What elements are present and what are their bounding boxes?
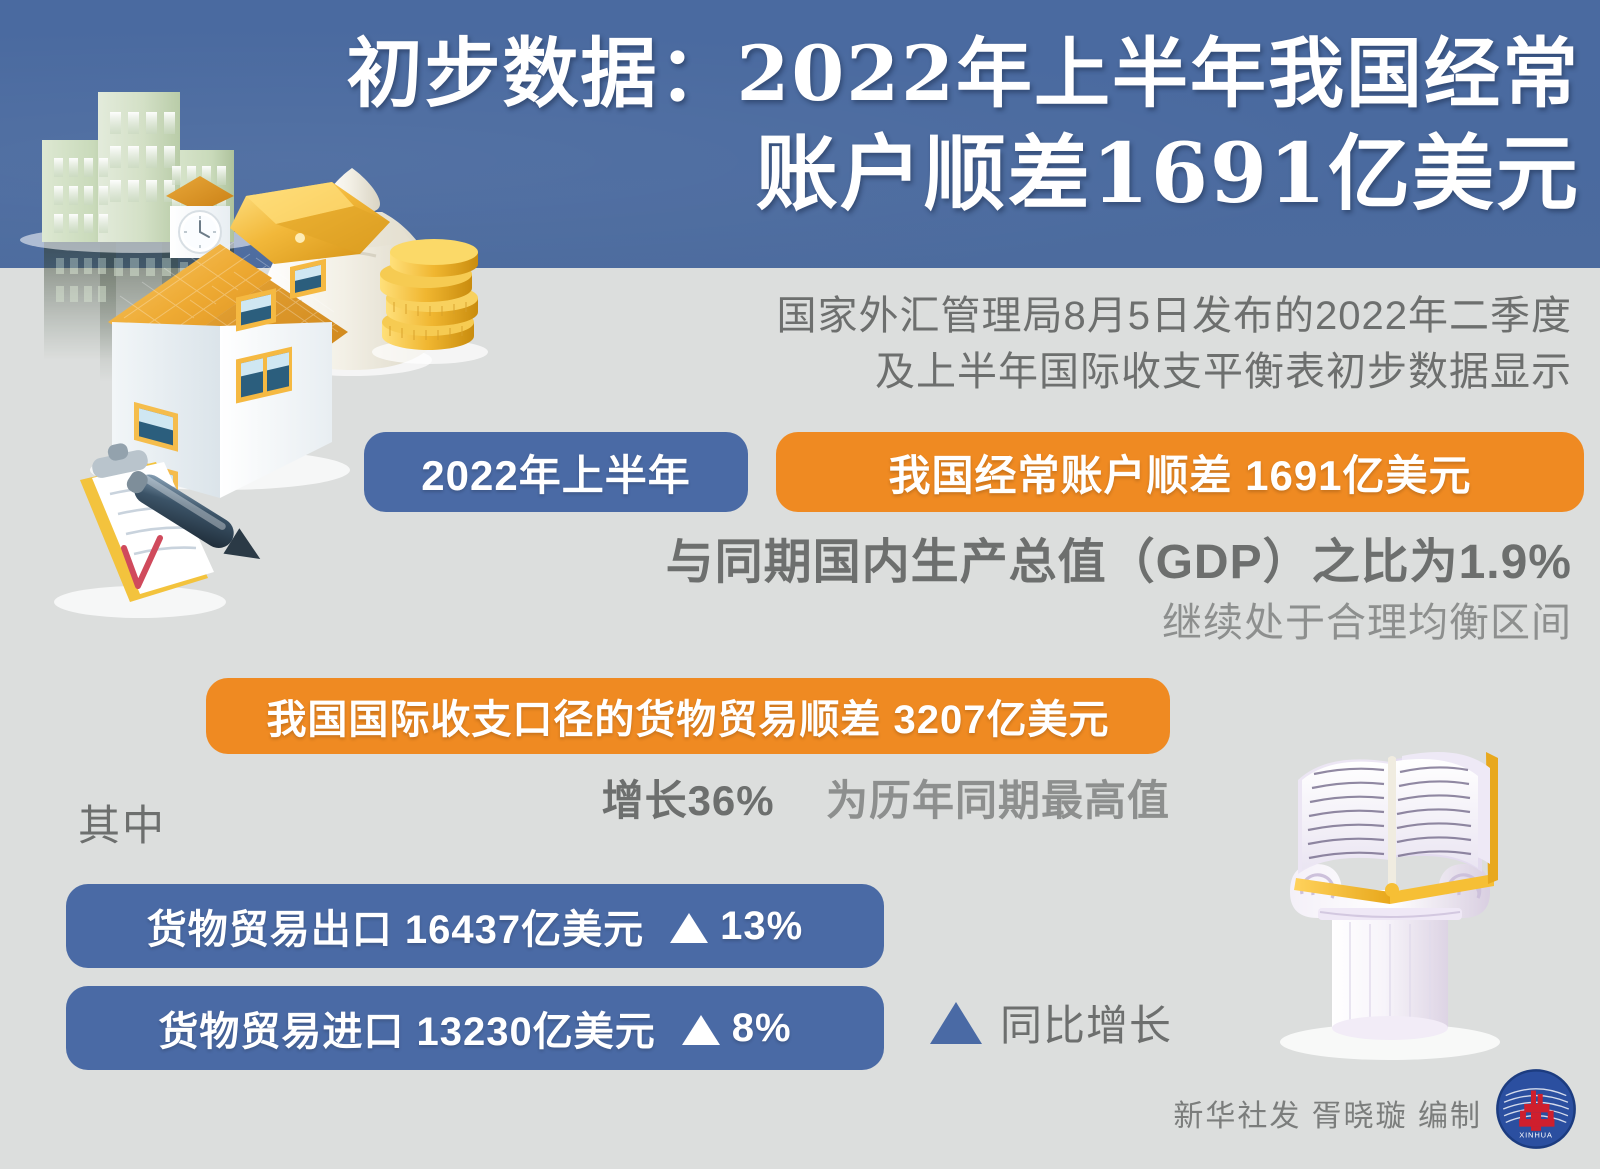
lede-paragraph: 国家外汇管理局8月5日发布的2022年二季度 及上半年国际收支平衡表初步数据显示 [572,288,1572,400]
credit-line: 新华社发 胥晓璇 编制 [1173,1091,1482,1135]
gdp-ratio-note: 继续处于合理均衡区间 [472,596,1572,650]
among-label: 其中 [78,792,166,853]
title-line-1: 初步数据：2022年上半年我国经常 [250,24,1580,124]
triangle-up-icon [930,1002,982,1044]
infographic-poster: 初步数据：2022年上半年我国经常 账户顺差1691亿美元 国家外汇管理局8月5… [0,0,1600,1169]
gdp-ratio-text: 与同期国内生产总值（GDP）之比为1.9% [472,532,1572,594]
legend-label: 同比增长 [1000,992,1172,1053]
xinhua-logo: XINHUA [1494,1067,1578,1151]
triangle-up-icon [682,1015,720,1045]
badge-goods-import: 货物贸易进口 13230亿美元 8% [66,986,884,1070]
svg-text:XINHUA: XINHUA [1519,1131,1553,1140]
export-change: 13% [720,904,803,949]
badge-goods-trade-surplus: 我国国际收支口径的货物贸易顺差 3207亿美元 [206,678,1170,754]
title-line-2: 账户顺差1691亿美元 [250,124,1580,224]
badge-goods-label: 我国国际收支口径的货物贸易顺差 3207亿美元 [266,687,1109,745]
page-title: 初步数据：2022年上半年我国经常 账户顺差1691亿美元 [250,24,1580,224]
triangle-up-icon [670,913,708,943]
legend: 同比增长 [930,992,1172,1053]
lede-line-2: 及上半年国际收支平衡表初步数据显示 [572,344,1572,400]
badge-current-account-surplus: 我国经常账户顺差 1691亿美元 [776,432,1584,512]
lede-line-1: 国家外汇管理局8月5日发布的2022年二季度 [572,288,1572,344]
badge-goods-export: 货物贸易出口 16437亿美元 13% [66,884,884,968]
illustration-right [1190,650,1590,1070]
export-label: 货物贸易出口 16437亿美元 [147,897,644,955]
goods-growth-note: 为历年同期最高值 [826,777,1170,824]
goods-growth-line: 增长36% 为历年同期最高值 [206,772,1170,830]
goods-growth-strong: 增长36% [602,777,775,824]
import-change: 8% [732,1006,792,1051]
import-label: 货物贸易进口 13230亿美元 [158,999,655,1057]
badge-surplus-label: 我国经常账户顺差 1691亿美元 [888,442,1471,503]
